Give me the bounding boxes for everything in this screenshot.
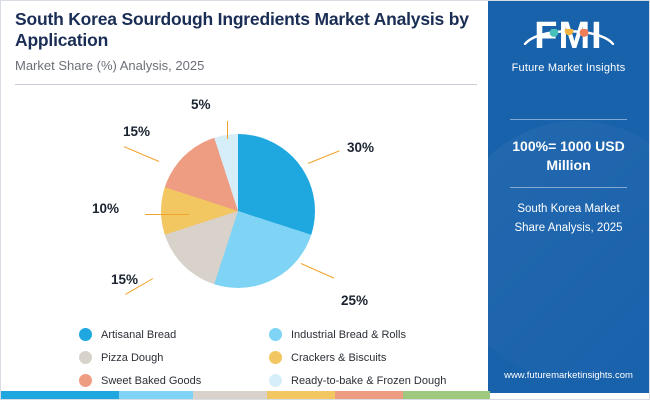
title-divider bbox=[15, 84, 477, 85]
legend-item-crackers-biscuits[interactable]: Crackers & Biscuits bbox=[269, 351, 459, 364]
legend-item-sweet-baked-goods[interactable]: Sweet Baked Goods bbox=[79, 374, 269, 387]
title-block: South Korea Sourdough Ingredients Market… bbox=[15, 9, 475, 73]
legend-label-ready-to-bake-frozen-dough: Ready-to-bake & Frozen Dough bbox=[291, 375, 446, 387]
pie-chart bbox=[161, 134, 315, 288]
legend-swatch-sweet-baked-goods bbox=[79, 374, 92, 387]
data-label-frozen: 5% bbox=[191, 97, 211, 112]
leader-line-sweet bbox=[124, 146, 159, 162]
legend-swatch-artisanal-bread bbox=[79, 328, 92, 341]
legend-item-ready-to-bake-frozen-dough[interactable]: Ready-to-bake & Frozen Dough bbox=[269, 374, 459, 387]
brand-divider-bottom bbox=[510, 187, 627, 188]
brand-url[interactable]: www.futuremarketinsights.com bbox=[488, 370, 649, 381]
bottom-bar-segment bbox=[267, 391, 335, 399]
bottom-bar-segment bbox=[1, 391, 119, 399]
legend-label-artisanal-bread: Artisanal Bread bbox=[101, 329, 176, 341]
fmi-tagline: Future Market Insights bbox=[488, 62, 649, 74]
legend-item-pizza-dough[interactable]: Pizza Dough bbox=[79, 351, 269, 364]
brand-panel: FMI Future Market Insights 100%= 1000 US… bbox=[488, 1, 649, 393]
fmi-arc-icon bbox=[521, 14, 617, 52]
chart-panel: South Korea Sourdough Ingredients Market… bbox=[1, 1, 490, 393]
page-title: South Korea Sourdough Ingredients Market… bbox=[15, 9, 475, 52]
data-label-sweet: 15% bbox=[123, 124, 150, 139]
bottom-bar-segment bbox=[403, 391, 490, 399]
legend-label-sweet-baked-goods: Sweet Baked Goods bbox=[101, 375, 201, 387]
pie-slices bbox=[161, 134, 315, 288]
legend-label-crackers-biscuits: Crackers & Biscuits bbox=[291, 352, 386, 364]
legend-label-industrial-bread-rolls: Industrial Bread & Rolls bbox=[291, 329, 406, 341]
legend-label-pizza-dough: Pizza Dough bbox=[101, 352, 163, 364]
data-label-crackers: 10% bbox=[92, 201, 119, 216]
leader-line-crackers bbox=[145, 214, 189, 215]
page-subtitle: Market Share (%) Analysis, 2025 bbox=[15, 58, 475, 73]
data-label-pizza: 15% bbox=[111, 272, 138, 287]
total-value-line1: 100%= 1000 USD bbox=[498, 137, 639, 156]
brand-caption-line1: South Korea Market bbox=[502, 201, 635, 218]
legend: Artisanal Bread Industrial Bread & Rolls… bbox=[79, 328, 459, 387]
legend-swatch-crackers-biscuits bbox=[269, 351, 282, 364]
legend-swatch-industrial-bread-rolls bbox=[269, 328, 282, 341]
legend-swatch-pizza-dough bbox=[79, 351, 92, 364]
legend-item-artisanal-bread[interactable]: Artisanal Bread bbox=[79, 328, 269, 341]
bottom-color-bar bbox=[1, 391, 490, 399]
bottom-bar-segment bbox=[119, 391, 193, 399]
infographic-page: South Korea Sourdough Ingredients Market… bbox=[0, 0, 650, 400]
bottom-bar-segment bbox=[193, 391, 267, 399]
bottom-bar-segment bbox=[335, 391, 403, 399]
legend-swatch-ready-to-bake-frozen-dough bbox=[269, 374, 282, 387]
leader-line-frozen bbox=[227, 121, 228, 139]
total-value-line2: Million bbox=[498, 156, 639, 175]
fmi-logo: FMI Future Market Insights bbox=[488, 17, 649, 74]
data-label-industrial: 25% bbox=[341, 293, 368, 308]
brand-caption-line2: Share Analysis, 2025 bbox=[502, 220, 635, 237]
brand-divider-top bbox=[510, 119, 627, 120]
data-label-artisanal: 30% bbox=[347, 140, 374, 155]
legend-item-industrial-bread-rolls[interactable]: Industrial Bread & Rolls bbox=[269, 328, 459, 341]
